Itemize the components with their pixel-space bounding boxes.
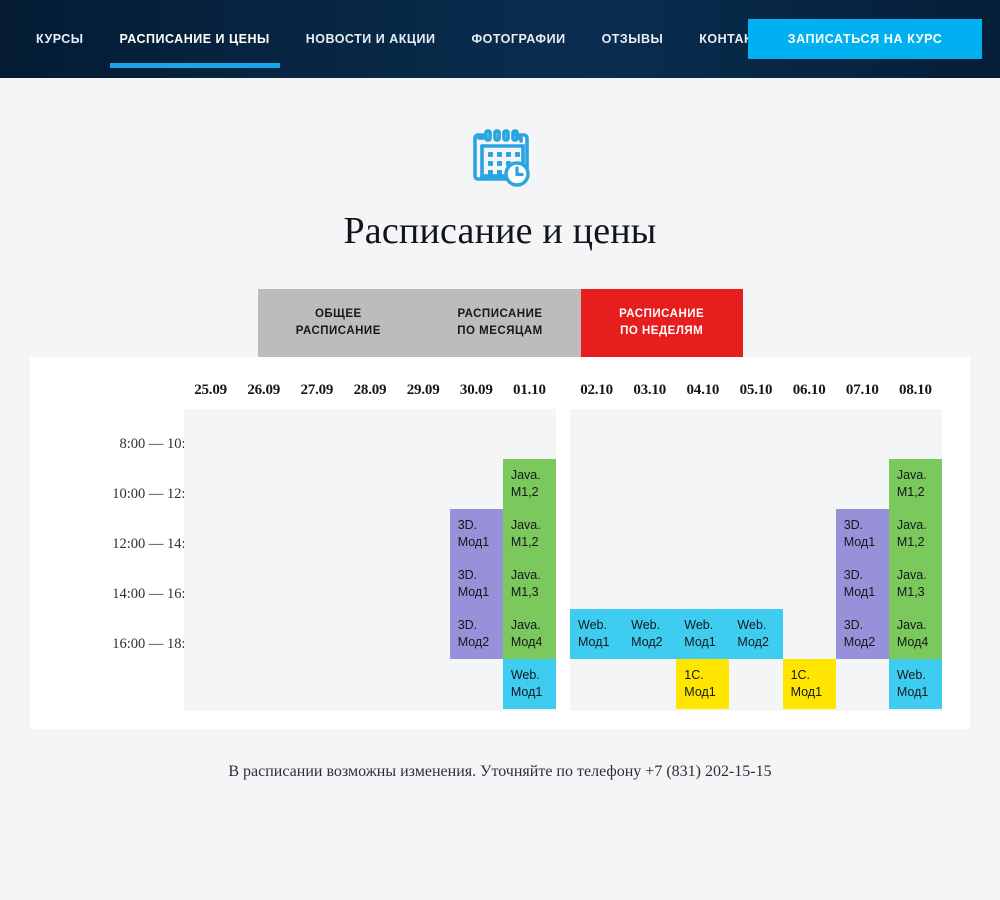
- empty-slot: [570, 459, 623, 509]
- course-block-l1: Java.: [511, 617, 556, 634]
- site-header: КУРСЫРАСПИСАНИЕ И ЦЕНЫНОВОСТИ И АКЦИИФОТ…: [0, 0, 1000, 78]
- nav-item-1[interactable]: РАСПИСАНИЕ И ЦЕНЫ: [102, 0, 288, 78]
- empty-slot: [623, 659, 676, 709]
- day-date-label: 01.10: [503, 382, 556, 399]
- day-header-row: 25.0926.0927.0928.0929.0930.0901.10: [184, 357, 556, 409]
- course-block[interactable]: Java.М1,2: [503, 459, 556, 509]
- course-block[interactable]: 3D.Мод1: [836, 559, 889, 609]
- calendar-clock-icon: [467, 128, 533, 195]
- empty-slot: [783, 409, 836, 459]
- course-block-l2: М1,3: [511, 584, 556, 601]
- course-block-l1: Java.: [511, 567, 556, 584]
- day-date-label: 07.10: [836, 382, 889, 399]
- day-date-label: 08.10: [889, 382, 942, 399]
- course-block-l1: Web.: [578, 617, 623, 634]
- day-header-row: 02.1003.1004.1005.1006.1007.1008.10: [570, 357, 942, 409]
- empty-slot: [397, 459, 450, 509]
- empty-slot: [290, 459, 343, 509]
- day-column: [397, 409, 450, 711]
- course-block-l2: Мод1: [897, 684, 942, 701]
- course-block-l2: Мод1: [684, 634, 729, 651]
- nav-item-4[interactable]: ОТЗЫВЫ: [584, 0, 682, 78]
- day-date-label: 29.09: [397, 382, 450, 399]
- empty-slot: [623, 459, 676, 509]
- course-block[interactable]: Web.Мод1: [570, 609, 623, 659]
- empty-slot: [783, 559, 836, 609]
- course-block-l1: 1С.: [684, 667, 729, 684]
- course-block[interactable]: Web.Мод1: [676, 609, 729, 659]
- empty-slot: [836, 459, 889, 509]
- empty-slot: [729, 659, 782, 709]
- empty-slot: [397, 659, 450, 709]
- empty-slot: [783, 609, 836, 659]
- course-block-l1: Web.: [511, 667, 556, 684]
- empty-slot: [397, 609, 450, 659]
- empty-slot: [729, 559, 782, 609]
- course-block-l1: Java.: [897, 567, 942, 584]
- course-block[interactable]: 3D.Мод2: [450, 609, 503, 659]
- course-block[interactable]: Java.М1,3: [889, 559, 942, 609]
- course-block-l1: 1С.: [791, 667, 836, 684]
- course-block[interactable]: 1С.Мод1: [676, 659, 729, 709]
- tab-1[interactable]: РАСПИСАНИЕПО МЕСЯЦАМ: [419, 289, 581, 357]
- empty-slot: [290, 609, 343, 659]
- course-block-l2: Мод1: [578, 634, 623, 651]
- course-block-l2: Мод2: [737, 634, 782, 651]
- empty-slot: [729, 509, 782, 559]
- course-block[interactable]: 3D.Мод2: [836, 609, 889, 659]
- day-column: Web.Мод1: [570, 409, 623, 711]
- course-block-l2: М1,2: [511, 534, 556, 551]
- course-block-l2: Мод1: [844, 584, 889, 601]
- empty-slot: [184, 509, 237, 559]
- course-block-l2: Мод1: [684, 684, 729, 701]
- empty-slot: [623, 409, 676, 459]
- empty-slot: [397, 509, 450, 559]
- empty-slot: [184, 659, 237, 709]
- course-block-l1: Java.: [897, 617, 942, 634]
- course-block-l2: Мод2: [631, 634, 676, 651]
- empty-slot: [237, 409, 290, 459]
- empty-slot: [237, 609, 290, 659]
- day-date-label: 30.09: [450, 382, 503, 399]
- nav-item-label: ФОТОГРАФИИ: [471, 32, 565, 46]
- course-block-l1: Web.: [897, 667, 942, 684]
- schedule-grid: 8:00 — 10:0010:00 — 12:0012:00 — 14:0014…: [30, 357, 970, 729]
- nav-item-2[interactable]: НОВОСТИ И АКЦИИ: [288, 0, 454, 78]
- course-block-l1: Java.: [511, 517, 556, 534]
- empty-slot: [783, 459, 836, 509]
- day-date-label: 05.10: [729, 382, 782, 399]
- course-block-l2: М1,2: [511, 484, 556, 501]
- nav-item-label: РАСПИСАНИЕ И ЦЕНЫ: [120, 32, 270, 46]
- empty-slot: [184, 409, 237, 459]
- day-column: 3D.Мод13D.Мод13D.Мод2: [836, 409, 889, 711]
- empty-slot: [729, 459, 782, 509]
- day-date-label: 06.10: [783, 382, 836, 399]
- course-block[interactable]: 3D.Мод1: [450, 559, 503, 609]
- empty-slot: [676, 559, 729, 609]
- tab-0[interactable]: ОБЩЕЕРАСПИСАНИЕ: [258, 289, 420, 357]
- empty-slot: [237, 459, 290, 509]
- empty-slot: [184, 559, 237, 609]
- course-block-l1: 3D.: [458, 617, 503, 634]
- course-block-l1: Java.: [897, 467, 942, 484]
- day-column: Java.М1,2Java.М1,2Java.М1,3Java.Мод4Web.…: [889, 409, 942, 711]
- nav-item-label: ОТЗЫВЫ: [602, 32, 664, 46]
- course-block[interactable]: 3D.Мод1: [450, 509, 503, 559]
- tab-label-line2: РАСПИСАНИЕ: [296, 323, 381, 340]
- page-header: Расписание и цены: [0, 78, 1000, 253]
- course-block-l1: Java.: [511, 467, 556, 484]
- course-block[interactable]: Java.М1,2: [503, 509, 556, 559]
- day-date-label: 03.10: [623, 382, 676, 399]
- course-block-l2: Мод1: [791, 684, 836, 701]
- empty-slot: [397, 559, 450, 609]
- empty-slot: [450, 409, 503, 459]
- nav-item-3[interactable]: ФОТОГРАФИИ: [453, 0, 583, 78]
- nav-item-label: НОВОСТИ И АКЦИИ: [306, 32, 436, 46]
- empty-slot: [450, 659, 503, 709]
- course-block-l1: 3D.: [844, 517, 889, 534]
- empty-slot: [290, 509, 343, 559]
- day-column: Web.Мод11С.Мод1: [676, 409, 729, 711]
- course-block-l2: Мод1: [844, 534, 889, 551]
- empty-slot: [343, 509, 396, 559]
- course-block-l2: Мод2: [458, 634, 503, 651]
- day-column: [184, 409, 237, 711]
- enroll-cta-button[interactable]: ЗАПИСАТЬСЯ НА КУРС: [748, 19, 982, 59]
- time-slot-label: 14:00 — 16:00: [70, 569, 200, 619]
- course-block-l1: 3D.: [458, 567, 503, 584]
- empty-slot: [343, 609, 396, 659]
- page-title: Расписание и цены: [0, 209, 1000, 253]
- empty-slot: [237, 659, 290, 709]
- week-grid-body: Web.Мод1Web.Мод2Web.Мод11С.Мод1Web.Мод21…: [570, 409, 942, 711]
- empty-slot: [570, 659, 623, 709]
- empty-slot: [836, 659, 889, 709]
- course-block[interactable]: 3D.Мод1: [836, 509, 889, 559]
- empty-slot: [570, 409, 623, 459]
- course-block-l1: Java.: [897, 517, 942, 534]
- course-block-l1: 3D.: [844, 617, 889, 634]
- empty-slot: [570, 509, 623, 559]
- course-block-l2: Мод1: [458, 584, 503, 601]
- course-block[interactable]: Web.Мод1: [889, 659, 942, 709]
- day-column: [290, 409, 343, 711]
- empty-slot: [343, 409, 396, 459]
- course-block-l2: М1,2: [897, 534, 942, 551]
- course-block[interactable]: Java.Мод4: [889, 609, 942, 659]
- course-block-l2: М1,3: [897, 584, 942, 601]
- week-grid-body: 3D.Мод13D.Мод13D.Мод2Java.М1,2Java.М1,2J…: [184, 409, 556, 711]
- day-date-label: 27.09: [290, 382, 343, 399]
- course-block-l1: 3D.: [844, 567, 889, 584]
- course-block[interactable]: Web.Мод2: [729, 609, 782, 659]
- empty-slot: [623, 509, 676, 559]
- course-block-l2: М1,2: [897, 484, 942, 501]
- empty-slot: [503, 409, 556, 459]
- week-2-panel: 02.1003.1004.1005.1006.1007.1008.10Web.М…: [570, 357, 942, 711]
- tab-2[interactable]: РАСПИСАНИЕПО НЕДЕЛЯМ: [581, 289, 743, 357]
- empty-slot: [729, 409, 782, 459]
- day-date-label: 04.10: [676, 382, 729, 399]
- day-column: [237, 409, 290, 711]
- empty-slot: [623, 559, 676, 609]
- empty-slot: [184, 609, 237, 659]
- day-column: 1С.Мод1: [783, 409, 836, 711]
- tab-label-line2: ПО НЕДЕЛЯМ: [620, 323, 703, 340]
- main-navigation: КУРСЫРАСПИСАНИЕ И ЦЕНЫНОВОСТИ И АКЦИИФОТ…: [0, 0, 791, 78]
- empty-slot: [237, 509, 290, 559]
- empty-slot: [343, 459, 396, 509]
- empty-slot: [676, 509, 729, 559]
- day-column: Java.М1,2Java.М1,2Java.М1,3Java.Мод4Web.…: [503, 409, 556, 711]
- course-block[interactable]: Java.М1,2: [889, 459, 942, 509]
- nav-item-label: КУРСЫ: [36, 32, 84, 46]
- course-block-l1: Web.: [737, 617, 782, 634]
- day-column: 3D.Мод13D.Мод13D.Мод2: [450, 409, 503, 711]
- tab-label-line1: РАСПИСАНИЕ: [457, 306, 542, 323]
- schedule-view-tabs: ОБЩЕЕРАСПИСАНИЕРАСПИСАНИЕПО МЕСЯЦАМРАСПИ…: [258, 289, 743, 357]
- empty-slot: [184, 459, 237, 509]
- tab-label-line1: ОБЩЕЕ: [315, 306, 362, 323]
- time-axis: 8:00 — 10:0010:00 — 12:0012:00 — 14:0014…: [70, 419, 200, 669]
- course-block[interactable]: 1С.Мод1: [783, 659, 836, 709]
- course-block-l1: Web.: [684, 617, 729, 634]
- empty-slot: [343, 559, 396, 609]
- nav-item-0[interactable]: КУРСЫ: [18, 0, 102, 78]
- empty-slot: [570, 559, 623, 609]
- empty-slot: [836, 409, 889, 459]
- day-date-label: 02.10: [570, 382, 623, 399]
- time-slot-label: 16:00 — 18:00: [70, 619, 200, 669]
- course-block-l2: Мод1: [511, 684, 556, 701]
- day-date-label: 26.09: [237, 382, 290, 399]
- empty-slot: [783, 509, 836, 559]
- empty-slot: [889, 409, 942, 459]
- course-block-l1: 3D.: [458, 517, 503, 534]
- day-column: Web.Мод2: [729, 409, 782, 711]
- empty-slot: [450, 459, 503, 509]
- tab-label-line2: ПО МЕСЯЦАМ: [457, 323, 543, 340]
- day-column: [343, 409, 396, 711]
- day-date-label: 28.09: [343, 382, 396, 399]
- course-block-l2: Мод4: [897, 634, 942, 651]
- schedule-card: 8:00 — 10:0010:00 — 12:0012:00 — 14:0014…: [30, 357, 970, 729]
- course-block-l2: Мод1: [458, 534, 503, 551]
- course-block[interactable]: Java.М1,2: [889, 509, 942, 559]
- course-block[interactable]: Web.Мод2: [623, 609, 676, 659]
- time-slot-label: 8:00 — 10:00: [70, 419, 200, 469]
- tab-label-line1: РАСПИСАНИЕ: [619, 306, 704, 323]
- course-block[interactable]: Web.Мод1: [503, 659, 556, 709]
- empty-slot: [676, 409, 729, 459]
- day-column: Web.Мод2: [623, 409, 676, 711]
- empty-slot: [290, 659, 343, 709]
- course-block[interactable]: Java.М1,3: [503, 559, 556, 609]
- empty-slot: [290, 409, 343, 459]
- course-block-l2: Мод2: [844, 634, 889, 651]
- empty-slot: [343, 659, 396, 709]
- empty-slot: [397, 409, 450, 459]
- time-slot-label: 12:00 — 14:00: [70, 519, 200, 569]
- empty-slot: [237, 559, 290, 609]
- schedule-note: В расписании возможны изменения. Уточняй…: [0, 763, 1000, 781]
- week-1-panel: 25.0926.0927.0928.0929.0930.0901.103D.Мо…: [184, 357, 556, 711]
- time-slot-label: 10:00 — 12:00: [70, 469, 200, 519]
- course-block[interactable]: Java.Мод4: [503, 609, 556, 659]
- empty-slot: [676, 459, 729, 509]
- empty-slot: [290, 559, 343, 609]
- course-block-l2: Мод4: [511, 634, 556, 651]
- day-date-label: 25.09: [184, 382, 237, 399]
- course-block-l1: Web.: [631, 617, 676, 634]
